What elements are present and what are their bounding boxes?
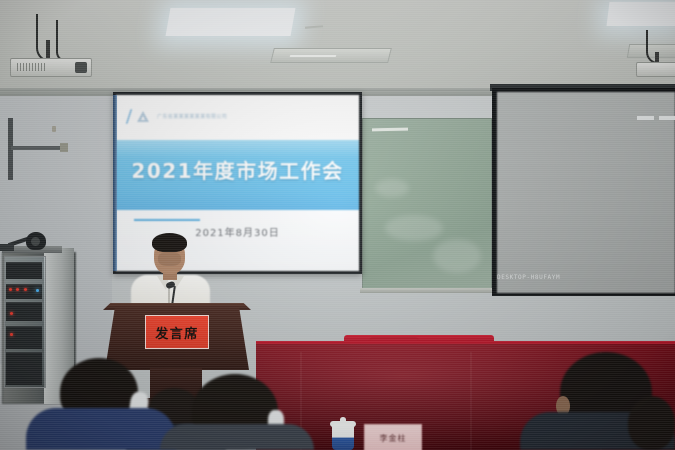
company-logo-text: 广东省某某某某某某有限公司: [157, 113, 227, 120]
screen-left-edge: [113, 95, 117, 271]
rack-unit: [6, 262, 42, 279]
ceiling-light-panel-1: [166, 8, 296, 36]
projector-cable-2: [56, 20, 67, 62]
status-led-red: [9, 288, 12, 291]
camera-icon: [26, 232, 46, 250]
screen-mark-2: [659, 116, 675, 120]
audience-body: [160, 424, 314, 450]
wall-conduit-horizontal: [11, 146, 63, 150]
green-chalkboard: [362, 118, 492, 292]
ceiling-slot-highlight: [290, 55, 337, 57]
drape-fold: [470, 352, 472, 450]
camera-base: [0, 244, 14, 251]
audience-body: [26, 408, 176, 450]
speaker-hair: [152, 233, 187, 252]
conference-room-photo: DESKTOP-H8UFAYM 广东省某某某某某某有限公司 2021年度市场工作…: [0, 0, 675, 450]
ceiling-projector-front: [10, 58, 92, 77]
chalkboard-rail: [360, 288, 492, 293]
chalk-smudge: [375, 179, 409, 197]
rack-unit: [6, 326, 42, 349]
status-led-red: [16, 288, 19, 291]
name-card: 李金柱: [364, 424, 422, 450]
wall-fixture-dot: [52, 126, 56, 132]
ceiling-light-panel-2: [607, 2, 675, 26]
wall-conduit-cap: [60, 143, 68, 152]
status-led-red: [10, 333, 13, 336]
desktop-computer-name-label: DESKTOP-H8UFAYM: [497, 274, 607, 281]
projector-vent-icon: [17, 63, 45, 71]
slide-date: 2021年8月30日: [116, 224, 359, 239]
slide-logo-row: 广东省某某某某某某有限公司: [128, 109, 227, 124]
status-led-red: [24, 288, 27, 291]
status-led-red: [10, 312, 13, 315]
screen-mark-1: [637, 116, 654, 120]
slide-divider-rule: [134, 219, 200, 221]
ceiling-projector-rear: [636, 62, 675, 77]
teacup-icon: [332, 424, 354, 450]
projector-lens-icon: [75, 62, 87, 73]
name-card-text: 李金柱: [380, 433, 407, 444]
slide-title: 2021年度市场工作会: [116, 155, 359, 184]
chalk-smudge: [433, 239, 481, 273]
chalk-smudge: [385, 215, 443, 241]
right-screen-marks: [637, 116, 675, 120]
status-led-blue: [36, 289, 39, 292]
podium-sign-text: 发言席: [155, 323, 199, 342]
projector-cable-1: [36, 14, 58, 62]
rack-unit: [6, 352, 42, 385]
projector-cable-3: [646, 30, 658, 64]
triangle-logo-icon: [137, 111, 150, 122]
audience-head: [628, 396, 675, 450]
podium-sign: 发言席: [145, 315, 209, 349]
chalk-tray-item: [372, 128, 408, 132]
right-projection-screen: [497, 92, 675, 293]
